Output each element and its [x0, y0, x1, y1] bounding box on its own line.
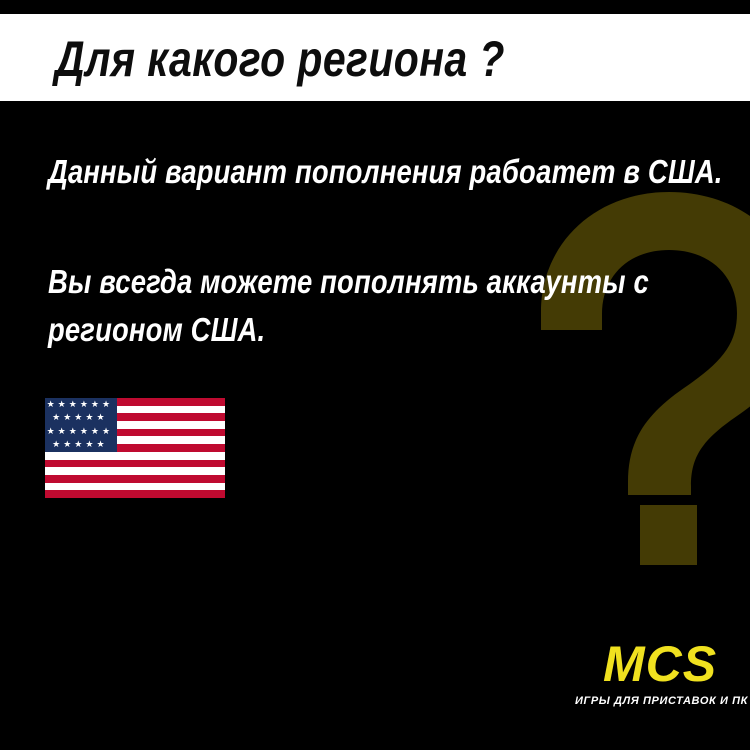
flag-star: ★: [91, 400, 99, 409]
flag-star: ★: [58, 427, 66, 436]
flag-star: ★: [85, 440, 93, 449]
us-flag-icon: ★★★★★★★★★★★★★★★★★★★★★★: [45, 398, 225, 498]
flag-star: ★: [96, 440, 104, 449]
flag-star: ★: [102, 427, 110, 436]
promo-card: Для какого региона ? Данный вариант попо…: [0, 0, 750, 750]
flag-star: ★: [96, 413, 104, 422]
flag-star: ★: [69, 400, 77, 409]
flag-star: ★: [91, 427, 99, 436]
flag-star: ★: [58, 400, 66, 409]
flag-canton: ★★★★★★★★★★★★★★★★★★★★★★: [45, 398, 117, 452]
flag-star: ★: [52, 413, 60, 422]
flag-star: ★: [85, 413, 93, 422]
flag-star: ★: [80, 400, 88, 409]
flag-star: ★: [74, 413, 82, 422]
flag-star: ★: [80, 427, 88, 436]
flag-star: ★: [74, 440, 82, 449]
brand-logo-tagline: ИГРЫ ДЛЯ ПРИСТАВОК И ПК: [575, 694, 745, 708]
flag-stripe: [45, 490, 225, 498]
flag-star: ★: [69, 427, 77, 436]
brand-logo: MCS ИГРЫ ДЛЯ ПРИСТАВОК И ПК: [575, 638, 745, 718]
brand-logo-wordmark: MCS: [575, 638, 745, 690]
header-banner: Для какого региона ?: [0, 14, 750, 101]
flag-star: ★: [47, 427, 55, 436]
flag-star: ★: [63, 413, 71, 422]
flag-star: ★: [52, 440, 60, 449]
flag-stripe: [45, 475, 225, 483]
flag-star: ★: [63, 440, 71, 449]
flag-stripe: [45, 460, 225, 468]
flag-star: ★: [102, 400, 110, 409]
flag-star: ★: [47, 400, 55, 409]
body-paragraph-2: Вы всегда можете пополнять аккаунты с ре…: [48, 258, 704, 354]
body-paragraph-1: Данный вариант пополнения рабоатет в США…: [48, 148, 629, 196]
page-title: Для какого региона ?: [55, 31, 505, 87]
